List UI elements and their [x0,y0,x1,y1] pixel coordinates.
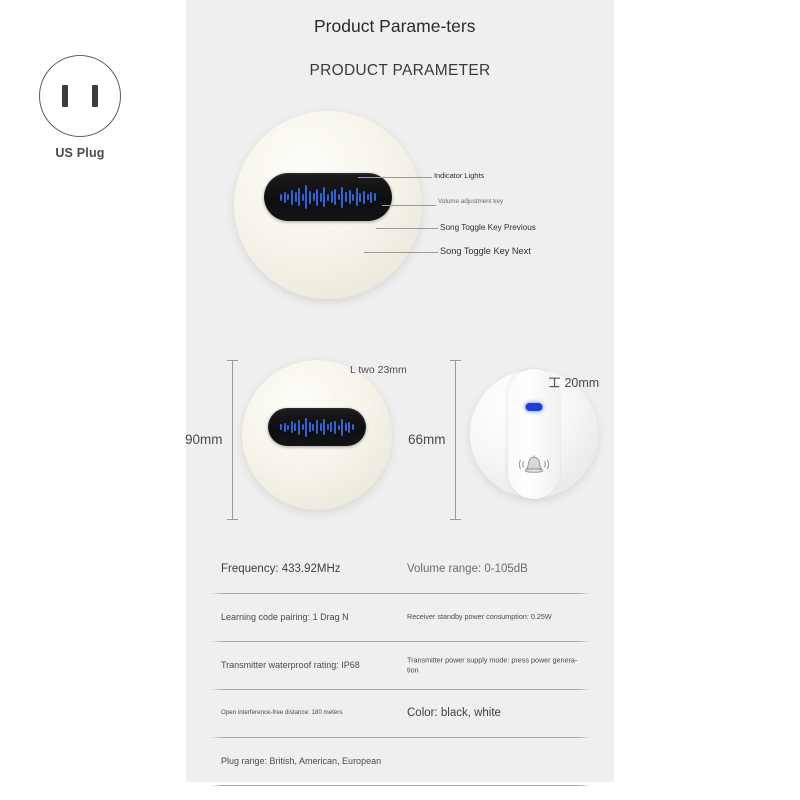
dimension-line-transmitter-height [450,360,461,520]
hero-product-figure: Indicator Lights Volume adjustment key S… [186,105,614,305]
leader-line-prev [376,228,438,229]
dimension-label-receiver-depth: L two 23mm [350,364,407,376]
row-divider [211,689,590,690]
dimension-label-transmitter-height: 66mm [408,432,446,447]
spec-volume-range: Volume range: 0-105dB [407,563,587,575]
receiver-display [264,173,392,221]
row-divider [211,785,590,786]
plug-prong-left [62,85,68,107]
specification-table: Frequency: 433.92MHz Volume range: 0-105… [211,545,590,786]
transmitter-led-indicator [526,403,543,411]
product-parameter-card: Product Parame-ters PRODUCT PARAMETER [186,0,614,782]
leader-line-volume [382,205,436,206]
receiver-display-dimensioned [268,408,366,446]
row-divider [211,593,590,594]
table-row: Learning code pairing: 1 Drag N Receiver… [211,593,590,641]
table-row: Frequency: 433.92MHz Volume range: 0-105… [211,545,590,593]
table-row: Plug range: British, American, European [211,737,590,785]
callout-indicator-lights: Indicator Lights [434,171,520,180]
spec-power-supply-mode: Transmitter power supply mode: press pow… [407,655,587,674]
table-row: Open interference-free distance: 180 met… [211,689,590,737]
table-row: Transmitter waterproof rating: IP68 Tran… [211,641,590,689]
callout-song-next: Song Toggle Key Next [440,246,600,258]
plug-prong-right [92,85,98,107]
callout-volume-key: Volume adjustment key [438,198,518,206]
waveform-icon [280,408,354,446]
receiver-body-dimensioned [242,360,392,510]
leader-line-next [364,252,438,253]
dimension-label-receiver-height: 90mm [185,432,223,447]
spec-frequency: Frequency: 433.92MHz [221,563,406,575]
row-divider [211,641,590,642]
dimension-label-transmitter-depth: 20mm [548,376,599,390]
spec-standby-power: Receiver standby power consumption: 0.25… [407,612,587,622]
leader-line-indicator [358,177,432,178]
depth-ibeam-icon [548,377,561,388]
waveform-icon [280,173,375,221]
transmitter-depth-value: 20mm [564,376,599,390]
spec-distance: Open interference-free distance: 180 met… [221,709,406,717]
dimension-figures: 90mm L two 23mm 66mm [186,352,614,532]
page-subtitle: PRODUCT PARAMETER [186,62,614,80]
dimension-line-receiver-height [227,360,238,520]
us-plug-icon [39,55,121,137]
row-divider [211,737,590,738]
spec-color: Color: black, white [407,707,587,719]
table-footer-divider-row [211,785,590,786]
page-title: Product Parame-ters [314,14,489,39]
us-plug-badge: US Plug [32,55,128,160]
spec-waterproof: Transmitter waterproof rating: IP68 [221,660,406,670]
us-plug-label: US Plug [32,146,128,160]
callout-song-prev: Song Toggle Key Previous [440,223,600,233]
spec-plug-range: Plug range: British, American, European [221,756,471,766]
bell-icon [519,453,549,479]
spec-learning-code: Learning code pairing: 1 Drag N [221,612,406,622]
